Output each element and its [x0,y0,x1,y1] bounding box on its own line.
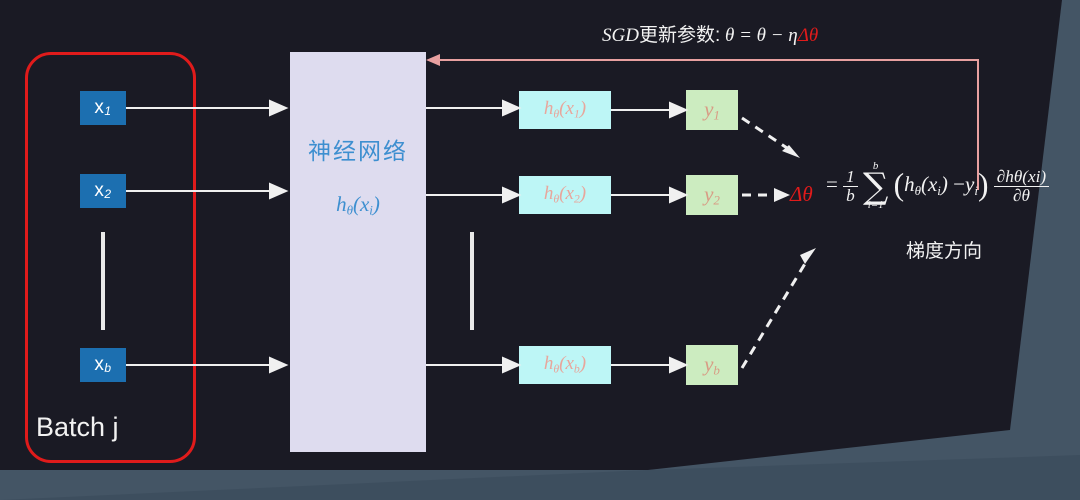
eq-close-paren: ) [978,167,989,202]
eq-y: y [965,172,974,196]
eq-partial-derivative: ∂hθ(xi) ∂θ [994,168,1049,205]
eq-open-paren: ( [894,167,905,202]
eq-h: h [904,172,915,196]
eq-equals: = [826,172,838,196]
eq-one-over-b: 1 b [843,168,858,205]
gradient-equation: = 1 b b ∑ i=1 (hθ(xi) −yi) ∂hθ(xi) ∂θ [826,162,1049,211]
gradient-direction-label: 梯度方向 [906,236,982,263]
eq-h-arg-close: ) [941,172,948,196]
delta-theta-symbol: Δθ [790,182,813,207]
eq-minus: − [953,172,965,196]
eq-h-arg: (x [921,172,937,196]
eq-summation: b ∑ i=1 [863,162,888,211]
slide-canvas: SGD更新参数: θ = θ − ηΔθ Batch j x1 x2 xb 神经… [0,0,1080,500]
